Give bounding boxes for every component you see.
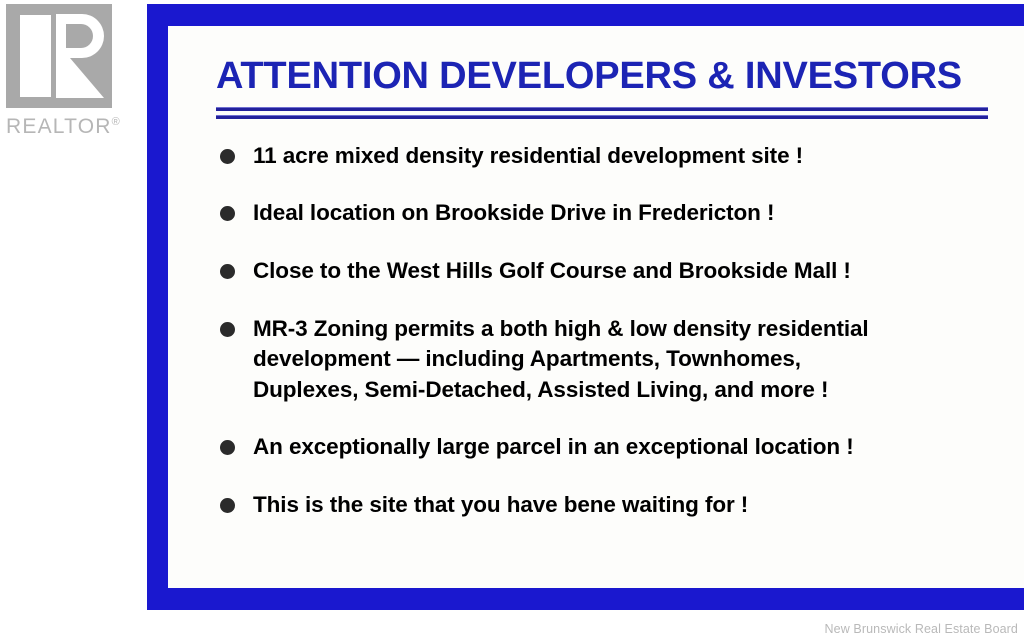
flyer-blue-border: ATTENTION DEVELOPERS & INVESTORS 11 acre…	[147, 4, 1024, 610]
headline-divider-rule-top	[216, 107, 988, 111]
list-item-line: An exceptionally large parcel in an exce…	[253, 432, 998, 463]
flyer-page: ATTENTION DEVELOPERS & INVESTORS 11 acre…	[168, 26, 1024, 588]
bullet-dot-icon	[220, 440, 235, 455]
list-item: 11 acre mixed density residential develo…	[212, 141, 998, 172]
realtor-wordmark-text: REALTOR	[6, 115, 112, 138]
realtor-mark-stem	[20, 15, 51, 97]
list-item-text: This is the site that you have bene wait…	[253, 490, 998, 521]
list-item: This is the site that you have bene wait…	[212, 490, 998, 521]
list-item-line: This is the site that you have bene wait…	[253, 490, 998, 521]
realtor-wordmark: REALTOR®	[6, 116, 138, 137]
registered-trademark-icon: ®	[112, 116, 120, 128]
list-item-line: MR-3 Zoning permits a both high & low de…	[253, 314, 998, 345]
list-item: An exceptionally large parcel in an exce…	[212, 432, 998, 463]
bullet-dot-icon	[220, 322, 235, 337]
list-item: MR-3 Zoning permits a both high & low de…	[212, 314, 998, 406]
bullet-dot-icon	[220, 498, 235, 513]
realtor-mark-r-glyph	[56, 14, 104, 98]
bullet-dot-icon	[220, 149, 235, 164]
list-item-line: 11 acre mixed density residential develo…	[253, 141, 998, 172]
list-item-text: Close to the West Hills Golf Course and …	[253, 256, 998, 287]
list-item-text: 11 acre mixed density residential develo…	[253, 141, 998, 172]
list-item-line: Ideal location on Brookside Drive in Fre…	[253, 198, 998, 229]
headline-divider	[216, 107, 988, 119]
flyer-screenshot: REALTOR® ATTENTION DEVELOPERS & INVESTOR…	[0, 0, 1024, 640]
list-item-line: Duplexes, Semi-Detached, Assisted Living…	[253, 375, 998, 406]
realtor-logo: REALTOR®	[6, 4, 138, 144]
list-item-line: Close to the West Hills Golf Course and …	[253, 256, 998, 287]
list-item: Close to the West Hills Golf Course and …	[212, 256, 998, 287]
list-item: Ideal location on Brookside Drive in Fre…	[212, 198, 998, 229]
list-item-line: development — including Apartments, Town…	[253, 344, 998, 375]
headline-divider-rule-bottom	[216, 115, 988, 119]
bullet-dot-icon	[220, 264, 235, 279]
page-title: ATTENTION DEVELOPERS & INVESTORS	[216, 56, 998, 98]
footer-credit: New Brunswick Real Estate Board	[825, 622, 1018, 636]
list-item-text: Ideal location on Brookside Drive in Fre…	[253, 198, 998, 229]
list-item-text: An exceptionally large parcel in an exce…	[253, 432, 998, 463]
realtor-mark-icon	[6, 4, 112, 108]
feature-bullet-list: 11 acre mixed density residential develo…	[212, 141, 998, 521]
list-item-text: MR-3 Zoning permits a both high & low de…	[253, 314, 998, 406]
bullet-dot-icon	[220, 206, 235, 221]
